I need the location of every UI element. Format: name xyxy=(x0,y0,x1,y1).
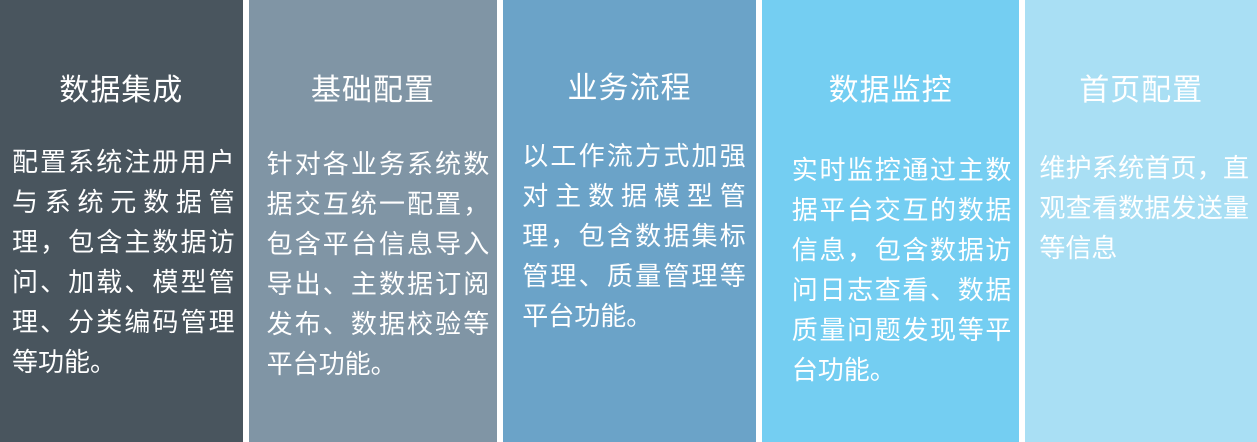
panel-content: 数据集成 配置系统注册用户与系统元数据管理，包含主数据访问、加载、模型管理、分类… xyxy=(0,0,243,382)
panel-description: 配置系统注册用户与系统元数据管理，包含主数据访问、加载、模型管理、分类编码管理等… xyxy=(0,142,243,382)
panel-title: 首页配置 xyxy=(1025,72,1257,110)
feature-panel-strip: 数据集成 配置系统注册用户与系统元数据管理，包含主数据访问、加载、模型管理、分类… xyxy=(0,0,1257,442)
feature-panel-homepage-configuration[interactable]: 首页配置 维护系统首页，直观查看数据发送量等信息 xyxy=(1025,0,1257,442)
panel-title: 业务流程 xyxy=(503,70,756,108)
panel-title: 基础配置 xyxy=(249,72,498,110)
panel-description: 维护系统首页，直观查看数据发送量等信息 xyxy=(1025,148,1257,268)
panel-content: 业务流程 以工作流方式加强对主数据模型管理，包含数据集标管理、质量管理等平台功能… xyxy=(503,0,756,336)
panel-description: 以工作流方式加强对主数据模型管理，包含数据集标管理、质量管理等平台功能。 xyxy=(503,136,756,336)
feature-panel-data-integration[interactable]: 数据集成 配置系统注册用户与系统元数据管理，包含主数据访问、加载、模型管理、分类… xyxy=(0,0,243,442)
panel-content: 首页配置 维护系统首页，直观查看数据发送量等信息 xyxy=(1025,0,1257,268)
feature-panel-business-process[interactable]: 业务流程 以工作流方式加强对主数据模型管理，包含数据集标管理、质量管理等平台功能… xyxy=(503,0,756,442)
feature-panel-data-monitoring[interactable]: 数据监控 实时监控通过主数据平台交互的数据信息，包含数据访问日志查看、数据质量问… xyxy=(762,0,1020,442)
panel-description: 实时监控通过主数据平台交互的数据信息，包含数据访问日志查看、数据质量问题发现等平… xyxy=(762,150,1020,390)
panel-content: 数据监控 实时监控通过主数据平台交互的数据信息，包含数据访问日志查看、数据质量问… xyxy=(762,0,1020,390)
panel-title: 数据监控 xyxy=(762,72,1020,110)
panel-description: 针对各业务系统数据交互统一配置，包含平台信息导入导出、主数据订阅发布、数据校验等… xyxy=(249,144,498,384)
panel-content: 基础配置 针对各业务系统数据交互统一配置，包含平台信息导入导出、主数据订阅发布、… xyxy=(249,0,498,384)
feature-panel-basic-configuration[interactable]: 基础配置 针对各业务系统数据交互统一配置，包含平台信息导入导出、主数据订阅发布、… xyxy=(249,0,498,442)
panel-title: 数据集成 xyxy=(0,72,243,110)
